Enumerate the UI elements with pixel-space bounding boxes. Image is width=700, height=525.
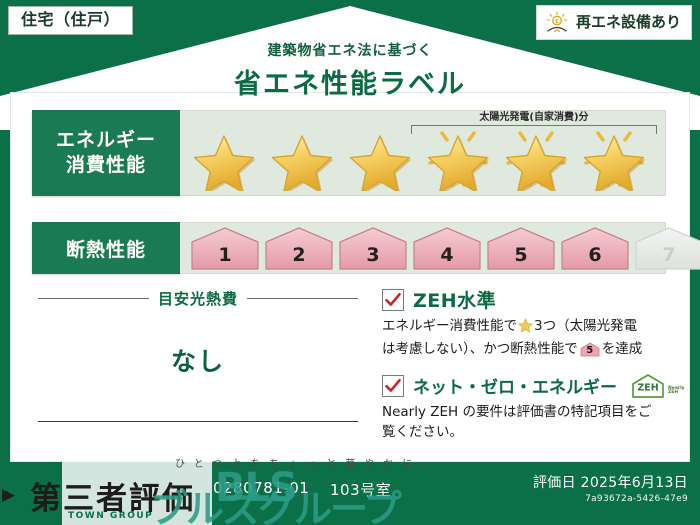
insulation-grade-active: 4 (412, 226, 482, 272)
star-base (344, 117, 416, 191)
energy-label-line2: 消費性能 (56, 153, 156, 178)
insulation-performance-row: 断熱性能 1 2 3 4 (32, 222, 666, 274)
insulation-grade-value: 6 (560, 244, 630, 266)
zeh-desc-part3: を達成 (602, 341, 643, 357)
zeh-level-checkbox[interactable] (382, 289, 404, 311)
energy-label-line1: エネルギー (56, 128, 156, 153)
evaluation-hash: 7a93672a-5426-47e9 (533, 494, 688, 504)
star-base (188, 117, 260, 191)
watermark-bls-kana: ブルズグループ (150, 478, 400, 525)
zeh-logo-subtext: Nearly ZEH (668, 387, 685, 399)
star-solar (422, 117, 494, 191)
insulation-grade-list: 1 2 3 4 5 (190, 226, 700, 272)
cost-rule-left (38, 298, 149, 299)
zeh-logo-sub2: ZEH (668, 390, 678, 395)
net-zero-row: ネット・ゼロ・エネルギー ZEH Nearly ZEH (382, 373, 670, 399)
insulation-grade-value: 7 (634, 244, 700, 266)
inline-grade-value: 5 (580, 344, 600, 359)
zeh-desc-part1: エネルギー消費性能で (382, 318, 517, 334)
net-zero-description: Nearly ZEH の要件は評価書の特記項目をご 覧ください。 (382, 403, 670, 443)
cost-rule-right (247, 298, 358, 299)
footer-evaluation: 評価日 2025年6月13日 7a93672a-5426-47e9 (533, 472, 688, 504)
insulation-grade-value: 4 (412, 244, 482, 266)
star-solar (500, 117, 572, 191)
zeh-section: ZEH水準 エネルギー消費性能で3つ（太陽光発電 は考慮しない）、かつ断熱性能で… (382, 286, 670, 443)
zeh-level-description: エネルギー消費性能で3つ（太陽光発電 は考慮しない）、かつ断熱性能で5を達成 (382, 317, 670, 360)
zeh-logo: ZEH Nearly ZEH (630, 373, 685, 399)
check-icon (384, 291, 402, 309)
cost-heading-row: 目安光熱費 (38, 288, 358, 309)
building-type-badge: 住宅（住戸） (8, 6, 133, 35)
watermark-arrow-icon: ▶ (2, 485, 15, 505)
cost-value: なし (38, 342, 358, 378)
insulation-grade-value: 2 (264, 244, 334, 266)
net-zero-title: ネット・ゼロ・エネルギー (413, 373, 617, 398)
insulation-grade-value: 5 (486, 244, 556, 266)
energy-label-root: 住宅（住戸） E 再エネ設備あり 建築物省エネ法に基づく 省エネ性能ラベル (0, 0, 700, 525)
zeh-spacer (382, 360, 670, 373)
zeh-level-row: ZEH水準 (382, 286, 670, 313)
insulation-grade-active: 2 (264, 226, 334, 272)
renewable-equipment-badge: E 再エネ設備あり (536, 5, 692, 40)
zeh-house-icon: ZEH (630, 373, 666, 399)
insulation-grade-inactive: 7 (634, 226, 700, 272)
energy-performance-body: 太陽光発電(自家消費)分 (180, 110, 666, 196)
zeh-desc-part2: は考慮しない）、かつ断熱性能で (382, 341, 578, 357)
insulation-grade-active: 5 (486, 226, 556, 272)
estimated-utility-cost-box: 目安光熱費 なし (38, 288, 358, 422)
svg-text:E: E (555, 19, 559, 25)
star-solar (578, 117, 650, 191)
insulation-performance-body: 1 2 3 4 5 (180, 222, 666, 274)
net-zero-checkbox[interactable] (382, 375, 404, 397)
net-zero-desc-line2: 覧ください。 (382, 424, 463, 440)
star-rating (188, 117, 650, 191)
star-base (266, 117, 338, 191)
cost-heading: 目安光熱費 (158, 288, 238, 309)
inline-grade-icon: 5 (580, 342, 600, 357)
zeh-level-title: ZEH水準 (413, 286, 496, 313)
insulation-grade-value: 3 (338, 244, 408, 266)
evaluation-date: 評価日 2025年6月13日 (533, 472, 688, 492)
energy-performance-label: エネルギー 消費性能 (32, 110, 180, 196)
insulation-grade-active: 6 (560, 226, 630, 272)
insulation-grade-active: 3 (338, 226, 408, 272)
insulation-grade-value: 1 (190, 244, 260, 266)
cost-bottom-rule (38, 421, 358, 422)
net-zero-desc-line1: Nearly ZEH の要件は評価書の特記項目をご (382, 404, 651, 420)
energy-performance-row: エネルギー 消費性能 太陽光発電(自家消費)分 (32, 110, 666, 196)
svg-text:ZEH: ZEH (637, 382, 658, 393)
insulation-grade-active: 1 (190, 226, 260, 272)
insulation-performance-label: 断熱性能 (32, 222, 180, 274)
renewable-badge-label: 再エネ設備あり (576, 15, 681, 30)
check-icon (384, 377, 402, 395)
inline-star-icon (518, 318, 533, 340)
zeh-desc-stars: 3つ（太陽光発電 (534, 318, 637, 334)
sun-icon: E (545, 11, 569, 33)
